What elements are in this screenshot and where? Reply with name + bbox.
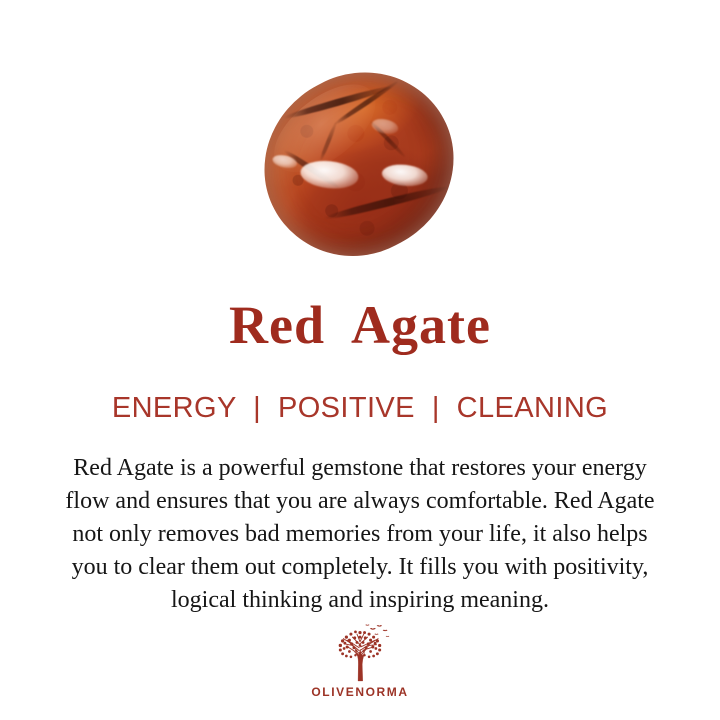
product-attributes: ENERGY | POSITIVE | CLEANING [0,392,720,425]
product-info-card: Red Agate ENERGY | POSITIVE | CLEANING R… [0,0,720,720]
red-agate-stone [232,40,485,287]
description-line: not only removes bad memories from your … [18,518,702,551]
stone-texture [232,40,485,287]
description-line: you to clear them out completely. It fil… [18,551,702,584]
description-line: flow and ensures that you are always com… [18,485,702,518]
brand-wordmark: OLIVENORMA [311,686,408,698]
gemstone-figure [255,63,465,268]
tree-with-birds-icon [321,622,399,684]
product-description: Red Agate is a powerful gemstone that re… [18,452,702,617]
brand-logo: OLIVENORMA [0,622,720,698]
product-title: Red Agate [0,298,720,352]
description-line: Red Agate is a powerful gemstone that re… [18,452,702,485]
gemstone-image [0,55,720,280]
description-line: logical thinking and inspiring meaning. [18,584,702,617]
